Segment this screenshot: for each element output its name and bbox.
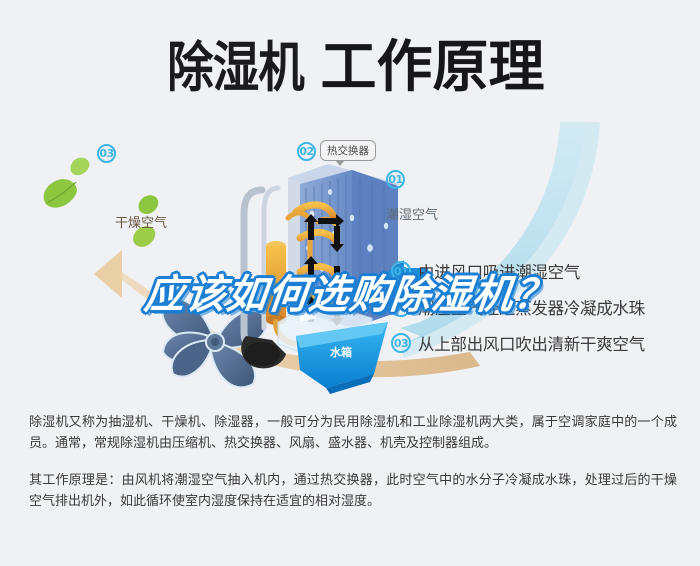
badge-dry-air: 03 bbox=[97, 144, 116, 163]
leaf-decorations bbox=[44, 158, 159, 247]
legend-list: 01 由进风口吸进潮湿空气 02 潮湿空气经过蒸发器冷凝成水珠 03 从上部出风… bbox=[391, 253, 691, 361]
legend-item: 03 从上部出风口吹出清新干爽空气 bbox=[391, 325, 691, 361]
heat-exchanger-callout: 热交换器 bbox=[320, 140, 376, 161]
badge-humid-air: 01 bbox=[386, 170, 405, 189]
legend-badge: 02 bbox=[391, 297, 411, 317]
article-body: 除湿机又称为抽湿机、干燥机、除湿器，一般可分为民用除湿机和工业除湿机两大类，属于… bbox=[29, 412, 677, 512]
legend-item: 01 由进风口吸进潮湿空气 bbox=[391, 253, 691, 289]
legend-text: 潮湿空气经过蒸发器冷凝成水珠 bbox=[418, 295, 645, 319]
legend-badge: 01 bbox=[391, 261, 411, 281]
dry-air-label: 干燥空气 bbox=[115, 212, 167, 231]
legend-text: 由进风口吸进潮湿空气 bbox=[418, 259, 580, 283]
page-title-part-2: 工作原理 bbox=[321, 22, 545, 103]
paragraph: 其工作原理是：由风机将潮湿空气抽入机内，通过热交换器，此时空气中的水分子冷凝成水… bbox=[29, 470, 677, 512]
legend-badge: 03 bbox=[391, 333, 411, 353]
humid-air-label: 潮湿空气 bbox=[386, 204, 438, 223]
badge-heat-exchanger: 02 bbox=[297, 142, 316, 161]
legend-item: 02 潮湿空气经过蒸发器冷凝成水珠 bbox=[391, 289, 691, 325]
legend-text: 从上部出风口吹出清新干爽空气 bbox=[418, 331, 645, 355]
page-title-part-1: 除湿机 bbox=[167, 23, 304, 102]
water-tank-label: 水箱 bbox=[330, 344, 352, 360]
paragraph: 除湿机又称为抽湿机、干燥机、除湿器，一般可分为民用除湿机和工业除湿机两大类，属于… bbox=[29, 412, 677, 454]
page-title: 除湿机工作原理 bbox=[0, 22, 700, 103]
